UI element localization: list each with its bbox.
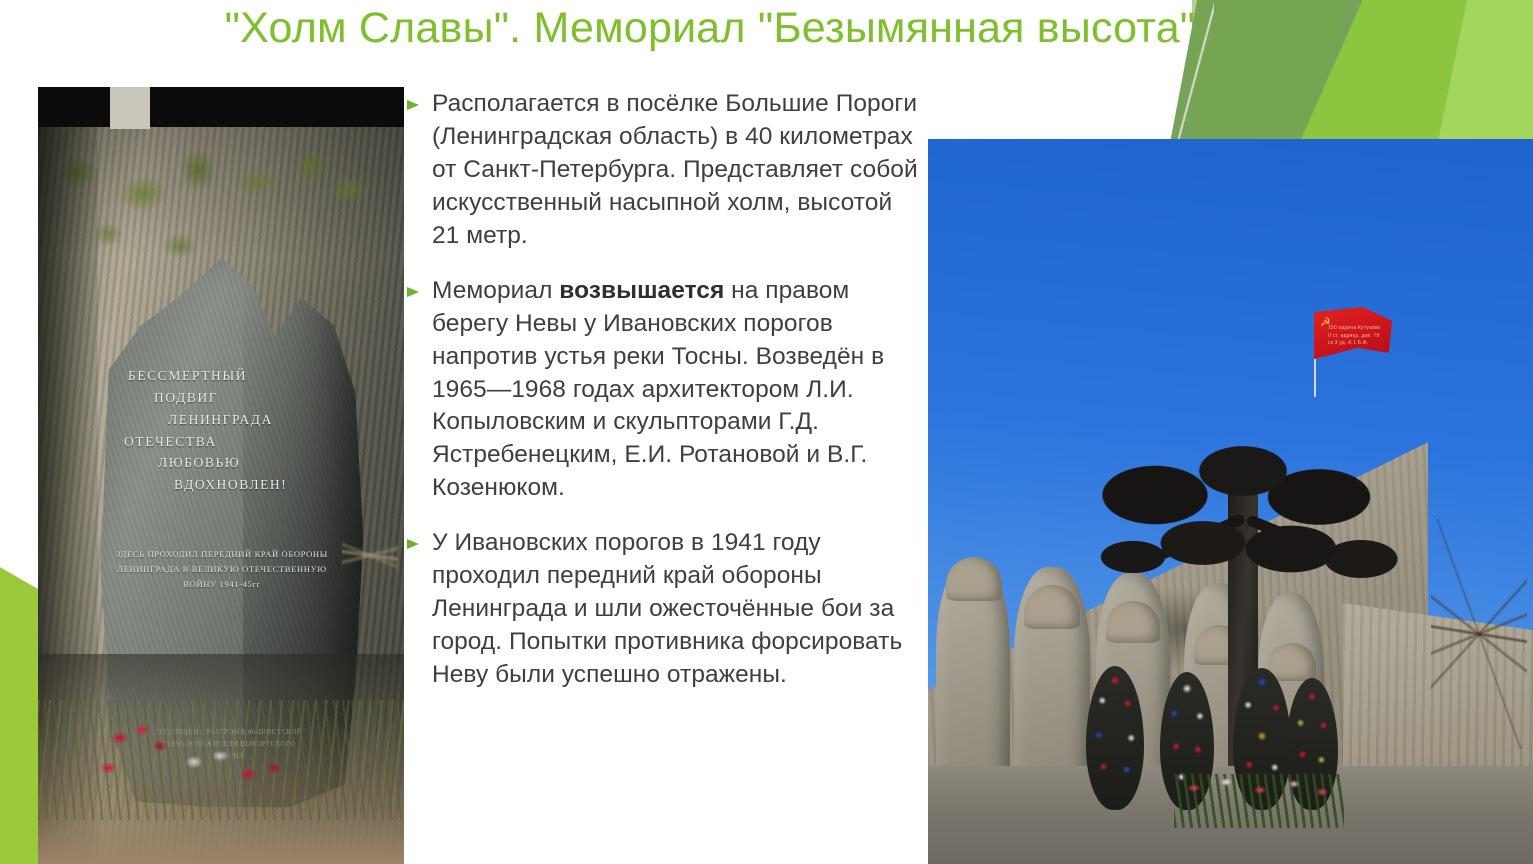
bullet-item-1: Располагается в посёлке Большие Пороги (…: [406, 88, 922, 253]
bullet-item-3: У Ивановских порогов в 1941 году проходи…: [406, 527, 922, 692]
photo-pillar: [110, 87, 150, 129]
bullet-1-text: Располагается в посёлке Большие Пороги (…: [432, 88, 922, 253]
bullet-item-2: Мемориал возвышается на правом берегу Не…: [406, 275, 922, 506]
bronze-tree-canopy: [1093, 439, 1403, 624]
flower-bed: [1174, 774, 1344, 828]
bezymyannaya-vysota-memorial-photo: ☭ 150 ордена Кутузова II ст. идрицк. див…: [928, 139, 1533, 864]
bullet-2-text: Мемориал возвышается на правом берегу Не…: [432, 275, 922, 506]
inscription-line-6: ВДОХНОВЛЕН!: [112, 474, 342, 496]
inscription-line-3: ЛЕНИНГРАДА: [112, 409, 342, 431]
inscription-line-5: ЛЮБОВЬЮ: [112, 452, 342, 474]
flag-inscription: 150 ордена Кутузова II ст. идрицк. див. …: [1328, 325, 1384, 348]
inscription-line-2: ПОДВИГ: [112, 387, 342, 409]
stone-inscription-small: ЗДЕСЬ ПРОХОДИЛ ПЕРЕДНИЙ КРАЙ ОБОРОНЫ ЛЕН…: [116, 547, 328, 591]
triangle-right-icon: [406, 98, 420, 112]
memorial-stone-photo: БЕССМЕРТНЫЙ ПОДВИГ ЛЕНИНГРАДА ОТЕЧЕСТВА …: [38, 87, 404, 864]
bullet-3-text: У Ивановских порогов в 1941 году проходи…: [432, 527, 922, 692]
slide-title: "Холм Славы". Мемориал "Безымянная высот…: [60, 4, 1360, 53]
stone-inscription-main: БЕССМЕРТНЫЙ ПОДВИГ ЛЕНИНГРАДА ОТЕЧЕСТВА …: [112, 365, 342, 496]
inscription-line-1: БЕССМЕРТНЫЙ: [112, 365, 342, 387]
relief-helmet-1: [946, 557, 1002, 601]
slide-root: "Холм Славы". Мемориал "Безымянная высот…: [0, 0, 1533, 864]
triangle-right-icon: [406, 537, 420, 551]
photo-flowers: [98, 716, 308, 806]
inscription-line-4: ОТЕЧЕСТВА: [112, 431, 342, 453]
bare-tree: [1431, 519, 1527, 749]
triangle-right-icon: [406, 285, 420, 299]
body-text-column: Располагается в посёлке Большие Пороги (…: [406, 88, 922, 714]
photo-top-dark-band: [38, 87, 404, 127]
